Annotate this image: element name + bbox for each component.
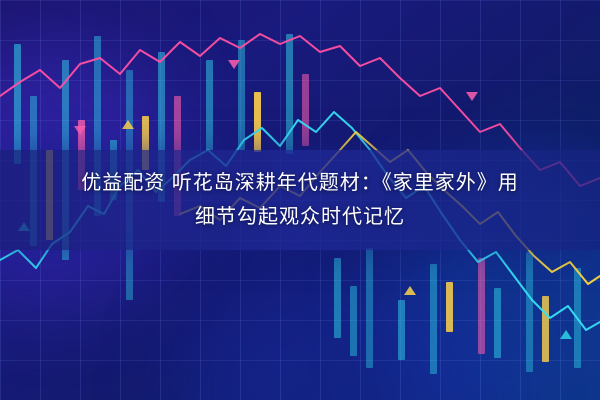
- triangle-down-marker: [74, 126, 86, 135]
- triangle-up-marker: [560, 330, 572, 339]
- triangle-down-marker: [466, 92, 478, 101]
- headline-line-2: 细节勾起观众时代记忆: [195, 200, 405, 234]
- triangle-up-marker: [122, 120, 134, 129]
- triangle-up-marker: [404, 286, 416, 295]
- triangle-down-marker: [228, 60, 240, 69]
- promo-banner-image: 优益配资 听花岛深耕年代题材：《家里家外》用 细节勾起观众时代记忆: [0, 0, 600, 400]
- headline-line-1: 优益配资 听花岛深耕年代题材：《家里家外》用: [81, 166, 519, 200]
- headline-banner: 优益配资 听花岛深耕年代题材：《家里家外》用 细节勾起观众时代记忆: [0, 150, 600, 250]
